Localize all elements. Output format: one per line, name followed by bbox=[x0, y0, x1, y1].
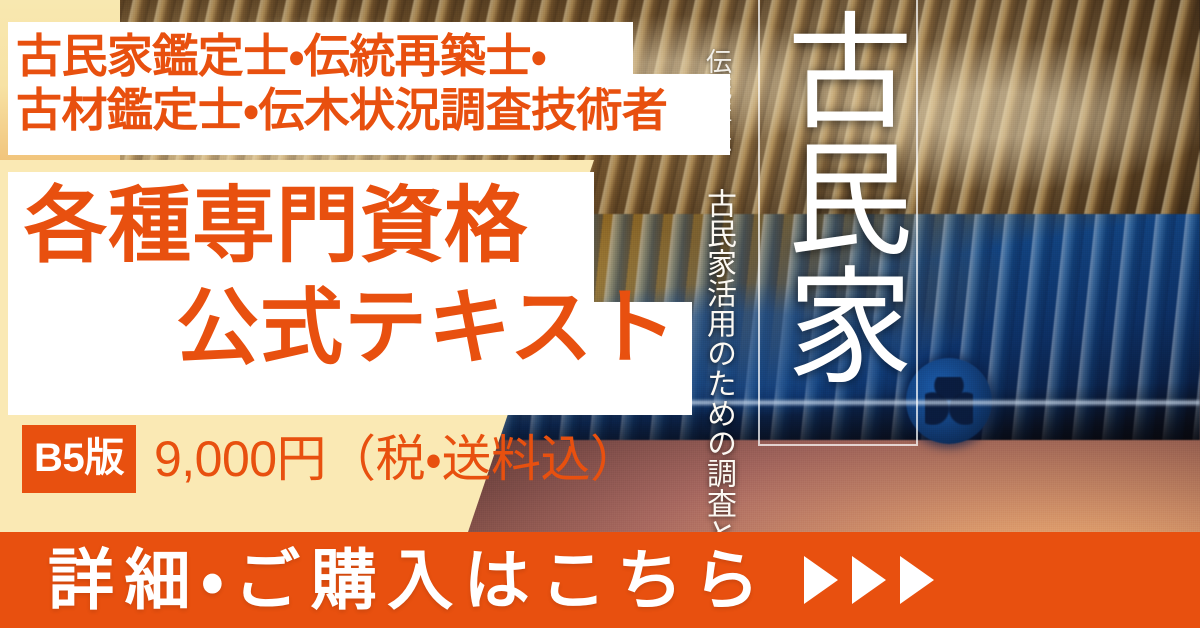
cta-bar[interactable]: 詳細・ご購入はこちら bbox=[0, 532, 1200, 628]
promo-banner: 伝統構法 古民家活用のための調査と再生の 古民家 古民家鑑定士・伝統再築士・ 古… bbox=[0, 0, 1200, 628]
kicker-line-1: 古民家鑑定士・伝統再築士・ bbox=[16, 30, 726, 84]
format-badge: B5版 bbox=[22, 425, 136, 493]
price-row: B5版 9,000円（税・送料込） bbox=[22, 425, 640, 493]
price-text: 9,000円（税・送料込） bbox=[154, 434, 640, 484]
headline-line-2: 公式テキスト bbox=[176, 286, 678, 369]
kicker-line-2: 古材鑑定士・伝木状況調査技術者 bbox=[16, 84, 726, 138]
book-cover-title: 古民家 bbox=[768, 6, 908, 388]
cta-arrows bbox=[804, 556, 934, 604]
kicker-text: 古民家鑑定士・伝統再築士・ 古材鑑定士・伝木状況調査技術者 bbox=[16, 30, 726, 138]
headline-line-1: 各種専門資格 bbox=[24, 184, 528, 267]
play-arrow-icon bbox=[852, 556, 886, 604]
play-arrow-icon bbox=[804, 556, 838, 604]
play-arrow-icon bbox=[900, 556, 934, 604]
cta-label: 詳細・ご購入はこちら bbox=[48, 547, 770, 613]
